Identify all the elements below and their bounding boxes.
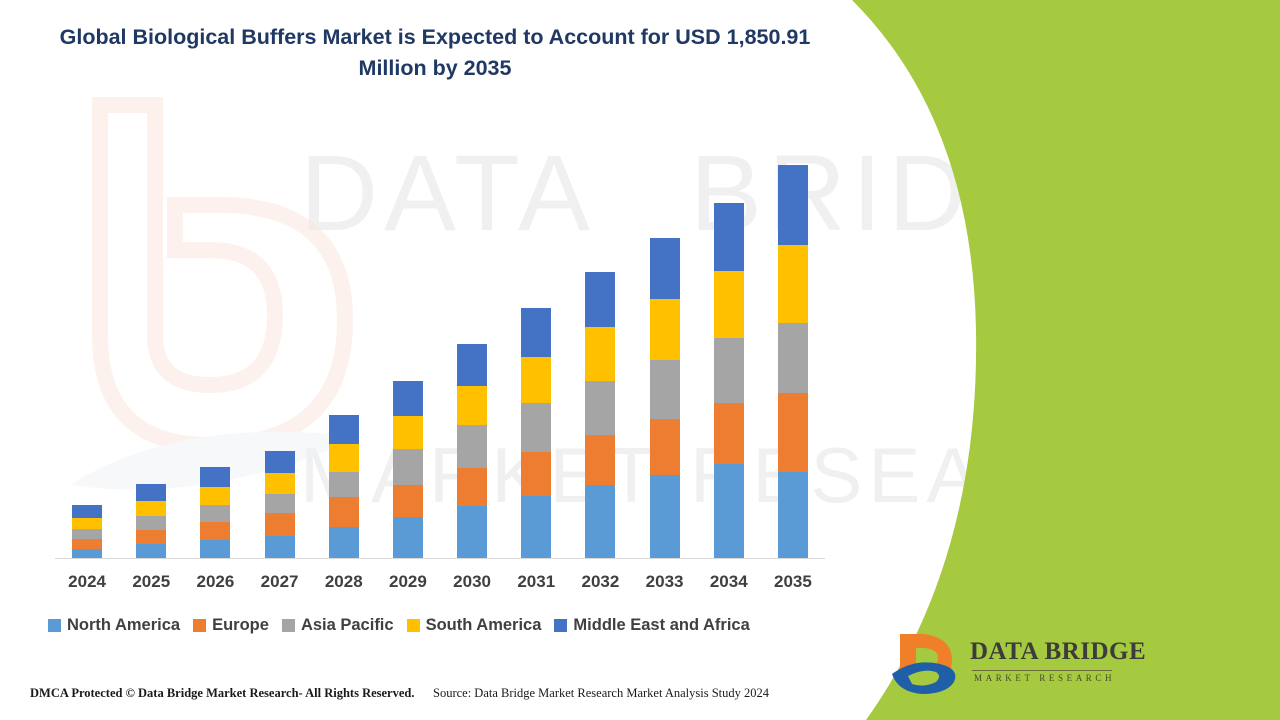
bar-segment [585,327,615,381]
bar-segment [200,487,230,505]
bar-column [393,381,423,558]
x-axis-tick-label: 2025 [119,572,183,592]
bar-segment [200,467,230,487]
footer: DMCA Protected © Data Bridge Market Rese… [0,682,850,712]
bar-segment [585,381,615,435]
bar-column [136,483,166,558]
bar-segment [650,475,680,558]
bar-segment [200,522,230,541]
bar-column [650,238,680,558]
bar-segment [585,272,615,327]
x-axis-tick-label: 2035 [761,572,825,592]
legend-swatch-icon [282,619,295,632]
bar-segment [72,549,102,558]
bar-segment [136,516,166,530]
legend-label: Middle East and Africa [573,616,749,635]
bar-segment [265,513,295,535]
x-axis-tick-label: 2027 [248,572,312,592]
bar-segment [650,360,680,420]
bar-segment [329,444,359,471]
bar-segment [714,271,744,339]
bar-segment [72,518,102,529]
chart-baseline-axis [55,558,825,559]
bar-segment [714,464,744,558]
x-axis-tick-label: 2028 [312,572,376,592]
bar-segment [521,403,551,452]
chart-x-axis-labels: 2024202520262027202820292030203120322033… [55,572,825,600]
bar-segment [393,416,423,449]
chart: 2024202520262027202820292030203120322033… [0,0,850,720]
bar-segment [393,449,423,486]
bar-segment [136,501,166,516]
bar-segment [778,472,808,558]
x-axis-tick-label: 2024 [55,572,119,592]
legend-swatch-icon [48,619,61,632]
chart-plot-area [55,140,825,558]
x-axis-tick-label: 2034 [697,572,761,592]
green-panel-shape-icon [830,0,1280,720]
bar-column [778,165,808,558]
bar-column [714,203,744,558]
chart-legend: North AmericaEuropeAsia PacificSouth Ame… [48,616,838,635]
legend-item[interactable]: Middle East and Africa [554,616,749,635]
bar-column [265,451,295,558]
bar-column [457,344,487,558]
brand-panel: Global Biological Buffers Market, By Reg… [830,0,1280,720]
bar-segment [650,299,680,360]
legend-item[interactable]: Asia Pacific [282,616,394,635]
legend-swatch-icon [193,619,206,632]
bar-column [585,272,615,558]
bar-column [329,415,359,558]
bar-segment [714,403,744,464]
bar-segment [457,425,487,467]
logo-subtitle: MARKET RESEARCH [974,673,1115,683]
bar-segment [265,536,295,558]
bar-segment [265,494,295,514]
bar-segment [714,203,744,271]
bar-segment [136,530,166,545]
bar-segment [329,527,359,558]
legend-label: Europe [212,616,269,635]
legend-label: South America [426,616,542,635]
bar-segment [457,468,487,507]
logo-divider [972,670,1112,671]
bar-segment [72,529,102,539]
infographic-page: DATA BRIDGE MARKET RESEARCH Global Biolo… [0,0,1280,720]
legend-label: North America [67,616,180,635]
footer-source: Source: Data Bridge Market Research Mark… [433,686,769,701]
bar-segment [72,505,102,518]
footer-dmca-notice: DMCA Protected © Data Bridge Market Rese… [30,686,415,701]
bar-segment [393,381,423,416]
bar-segment [778,393,808,472]
bar-segment [393,485,423,517]
bar-segment [521,308,551,357]
legend-swatch-icon [554,619,567,632]
x-axis-tick-label: 2031 [504,572,568,592]
bar-column [521,307,551,558]
company-logo: DATA BRIDGE MARKET RESEARCH [890,630,1120,696]
bar-segment [457,506,487,558]
x-axis-tick-label: 2033 [633,572,697,592]
logo-name: DATA BRIDGE [970,638,1146,666]
bar-segment [521,496,551,558]
x-axis-tick-label: 2029 [376,572,440,592]
legend-label: Asia Pacific [301,616,394,635]
bar-segment [200,540,230,558]
bar-segment [200,505,230,522]
bar-segment [136,484,166,501]
bar-segment [585,435,615,485]
bar-segment [265,473,295,494]
bar-segment [585,485,615,558]
legend-item[interactable]: South America [407,616,542,635]
bar-column [200,467,230,558]
x-axis-tick-label: 2026 [183,572,247,592]
legend-swatch-icon [407,619,420,632]
x-axis-tick-label: 2032 [568,572,632,592]
bar-segment [778,245,808,323]
bar-segment [457,344,487,387]
bar-segment [521,357,551,403]
bar-segment [265,451,295,473]
bar-segment [329,497,359,527]
legend-item[interactable]: North America [48,616,180,635]
bar-segment [136,544,166,558]
bar-segment [457,386,487,425]
bar-segment [778,165,808,245]
databridge-logo-mark-icon [890,630,962,696]
bar-segment [393,517,423,558]
bar-segment [72,539,102,549]
bar-segment [650,238,680,299]
bar-segment [714,338,744,403]
bar-segment [778,323,808,392]
bar-segment [650,419,680,475]
bar-segment [329,415,359,444]
x-axis-tick-label: 2030 [440,572,504,592]
legend-item[interactable]: Europe [193,616,269,635]
bar-column [72,505,102,558]
bar-segment [521,452,551,496]
bar-segment [329,472,359,497]
